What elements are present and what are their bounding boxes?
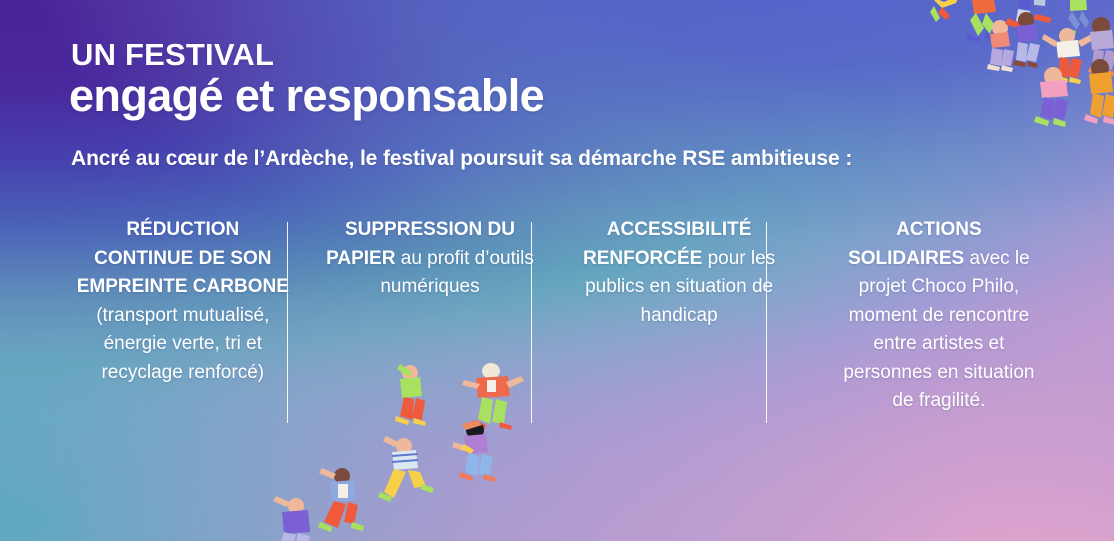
page-title: engagé et responsable xyxy=(69,72,544,121)
pillar-title: ACTIONS SOLIDAIRES xyxy=(848,219,982,269)
pillar-actions-solidaires: ACTIONS SOLIDAIRES avec le projet Choco … xyxy=(828,216,1050,416)
slide-content: UN FESTIVAL engagé et responsable Ancré … xyxy=(0,0,1114,541)
eyebrow-text: UN FESTIVAL xyxy=(71,39,274,72)
pillar-reduction-empreinte-carbone: RÉDUCTION CONTINUE DE SON EMPREINTE CARB… xyxy=(64,216,302,387)
pillar-detail: avec le projet Choco Philo, moment de re… xyxy=(843,248,1034,412)
festival-rse-slide: UN FESTIVAL engagé et responsable Ancré … xyxy=(0,0,1114,541)
intro-text: Ancré au cœur de l’Ardèche, le festival … xyxy=(71,147,852,171)
pillar-detail: au profit d’outils numériques xyxy=(380,248,533,298)
pillar-suppression-papier: SUPPRESSION DU PAPIER au profit d’outils… xyxy=(302,216,559,302)
pillar-detail: (transport mutualisé, énergie verte, tri… xyxy=(96,305,269,383)
pillar-title: RÉDUCTION CONTINUE DE SON EMPREINTE CARB… xyxy=(77,219,289,297)
pillar-accessibilite-renforcee: ACCESSIBILITÉ RENFORCÉE pour les publics… xyxy=(558,216,799,330)
rse-pillars-list: RÉDUCTION CONTINUE DE SON EMPREINTE CARB… xyxy=(64,216,1050,416)
